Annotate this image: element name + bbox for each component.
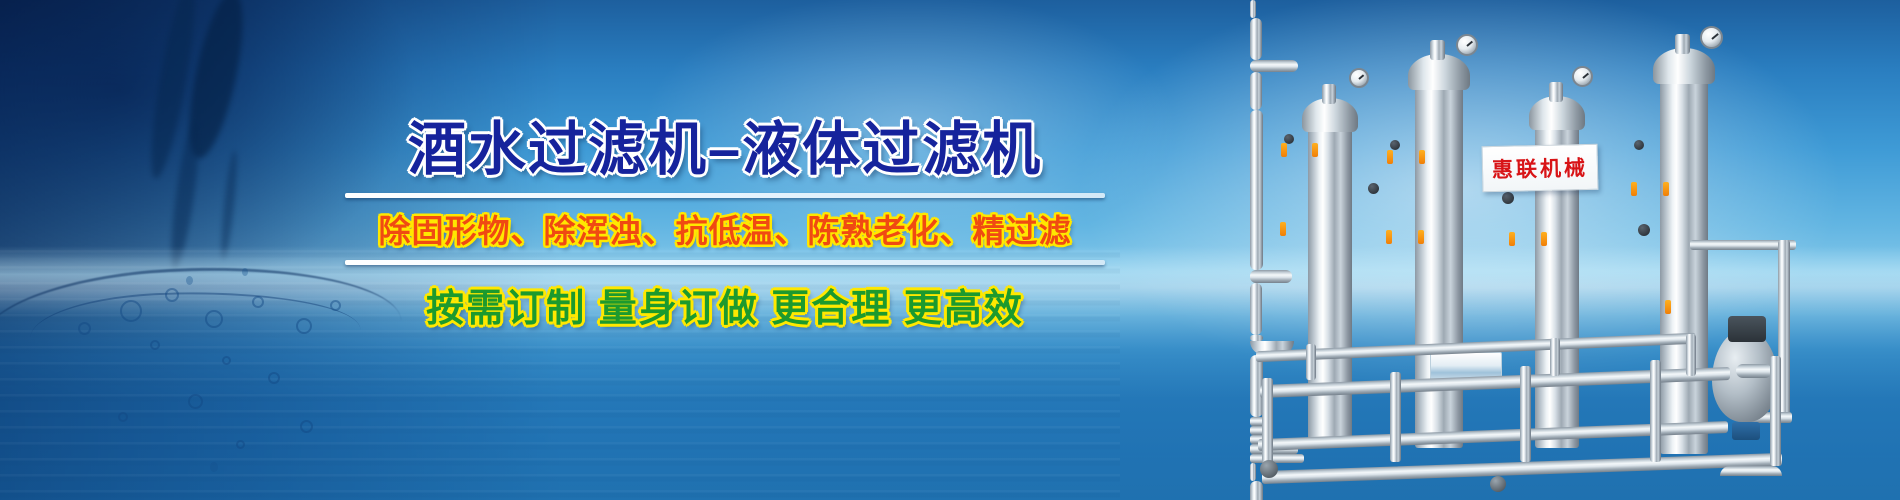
valve-handle-icon <box>1387 150 1393 164</box>
pump-outlet-flange <box>1736 364 1772 378</box>
frame-brace-2 <box>1550 338 1560 376</box>
water-droplet-icon <box>186 276 193 285</box>
water-bubble-icon <box>120 300 142 322</box>
vessel-body-4 <box>1660 72 1708 454</box>
water-bubble-icon <box>205 310 223 328</box>
valve-handle-icon <box>1663 182 1669 196</box>
caster-wheel-icon <box>1490 476 1506 492</box>
pressure-gauge-2 <box>1456 34 1478 56</box>
gauge-stem-2 <box>1250 463 1256 481</box>
water-droplet-icon <box>242 268 248 276</box>
promotional-banner: 酒水过滤机–液体过滤机 除固形物、除浑浊、抗低温、陈熟老化、精过滤 按需订制 量… <box>0 0 1900 500</box>
riser-pipe-1 <box>1250 110 1263 270</box>
frame-leg-1 <box>1262 378 1273 464</box>
page-title: 酒水过滤机–液体过滤机 <box>330 118 1120 183</box>
frame-leg-2 <box>1390 372 1401 462</box>
water-bubble-icon <box>236 440 245 449</box>
valve-handle-icon <box>1386 230 1392 244</box>
value-promise-text: 按需订制 量身订做 更合理 更高效 <box>330 277 1120 332</box>
valve-handle-icon <box>1541 232 1547 246</box>
inlet-pipe-right-1 <box>1250 72 1262 110</box>
water-bubble-icon <box>252 296 264 308</box>
valve-handle-icon <box>1281 143 1287 157</box>
riser-crossover-1 <box>1250 270 1292 283</box>
water-bubble-icon <box>300 420 313 433</box>
valve-handle-icon <box>1280 222 1286 236</box>
riser-down-1 <box>1250 283 1262 335</box>
valve-handle-icon <box>1665 300 1671 314</box>
water-bubble-icon <box>118 412 128 422</box>
water-bubble-icon <box>188 394 203 409</box>
vessel-neck-3 <box>1549 82 1563 102</box>
vessel-neck-2 <box>1430 40 1445 60</box>
pressure-gauge-4 <box>1700 26 1723 49</box>
inlet-pipe-left-1 <box>1250 18 1262 60</box>
valve-knob-icon <box>1502 192 1514 204</box>
divider-line-top <box>345 193 1105 198</box>
water-bubble-icon <box>268 372 280 384</box>
water-bubble-icon <box>78 322 91 335</box>
frame-leg-3 <box>1520 366 1531 462</box>
frame-brace-3 <box>1686 334 1696 376</box>
valve-knob-icon <box>1634 140 1644 150</box>
valve-handle-icon <box>1509 232 1515 246</box>
feature-list-text: 除固形物、除浑浊、抗低温、陈熟老化、精过滤 <box>330 206 1120 252</box>
valve-knob-icon <box>1638 224 1650 236</box>
filtration-machine-illustration: 惠联机械 <box>1250 0 1900 500</box>
frame-handle-bar <box>1720 466 1782 476</box>
water-bubble-icon <box>222 356 231 365</box>
valve-handle-icon <box>1631 182 1637 196</box>
valve-handle-icon <box>1419 150 1425 164</box>
valve-handle-icon <box>1312 143 1318 157</box>
frame-leg-5 <box>1770 356 1781 466</box>
valve-knob-icon <box>1368 183 1379 194</box>
water-bubble-icon <box>165 288 179 302</box>
pump-base-block <box>1732 422 1760 440</box>
frame-brace-1 <box>1306 344 1316 380</box>
inlet-pipe-top-1 <box>1250 60 1298 72</box>
brand-sign-text: 惠联机械 <box>1492 152 1589 184</box>
brand-sign: 惠联机械 <box>1482 144 1599 192</box>
divider-line-bottom <box>345 260 1105 265</box>
water-bubble-icon <box>150 340 160 350</box>
pressure-gauge-1 <box>1349 68 1369 88</box>
valve-handle-icon <box>1418 230 1424 244</box>
gauge-stem-1 <box>1250 0 1256 18</box>
banner-copy-block: 酒水过滤机–液体过滤机 除固形物、除浑浊、抗低温、陈熟老化、精过滤 按需订制 量… <box>330 118 1120 332</box>
inlet-pipe-left-2 <box>1250 481 1263 500</box>
frame-leg-4 <box>1650 360 1661 462</box>
vessel-neck-1 <box>1322 84 1336 104</box>
pump-motor <box>1728 316 1766 342</box>
caster-wheel-icon <box>1260 460 1278 478</box>
cross-pipe-1 <box>1250 454 1304 463</box>
water-bubble-icon <box>296 318 312 334</box>
water-droplet-icon <box>210 462 218 472</box>
pressure-gauge-3 <box>1572 66 1593 87</box>
vessel-body-2 <box>1415 78 1463 448</box>
valve-knob-icon <box>1390 140 1400 150</box>
vessel-neck-4 <box>1675 34 1690 54</box>
